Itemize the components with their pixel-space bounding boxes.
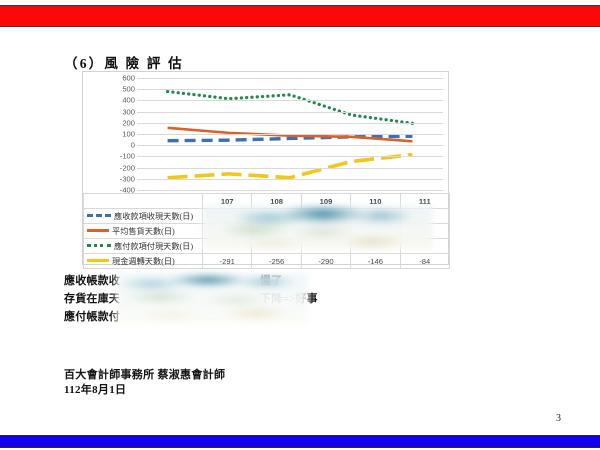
footer-line-date: 112年8月1日 [64,383,225,398]
legend-swatch-icon [87,229,109,232]
footer-line-firm: 百大會計師事務所 蔡淑惠會計師 [64,368,225,383]
table-cell [351,209,400,224]
table-row: 平均售貨天數(日) [84,224,450,239]
commentary-fragment-left: 應收帳款收 [64,272,120,288]
table-column-header: 108 [252,194,301,209]
table-row: 應付款項付現天數(日) [84,239,450,254]
table-cell [351,224,400,239]
y-axis-tick-label: -300 [83,174,135,183]
legend-swatch-icon [87,244,111,247]
slide-bottom-accent-bar [0,435,600,448]
chart-gridline [137,190,443,191]
chart-plot-area: 6005004003002001000-100-200-300-400 [83,72,450,193]
table-cell [252,224,301,239]
table-column-header: 107 [203,194,252,209]
y-axis-tick-label: 200 [83,118,135,127]
chart-gridline [137,89,443,90]
chart-data-table: 107108109110111應收款項收現天數(日)平均售貨天數(日)應付款項付… [83,193,450,265]
chart-gridline [137,123,443,124]
table-cell [301,239,350,254]
legend-entry: 平均售貨天數(日) [84,224,203,239]
y-axis-tick-label: 400 [83,96,135,105]
chart-plot [137,78,443,190]
table-cell [351,239,400,254]
chart-gridline [137,145,443,146]
table-row: 應收款項收現天數(日) [84,209,450,224]
commentary-fragment-left: 存貨在庫天 [64,290,120,306]
footer-credit: 百大會計師事務所 蔡淑惠會計師 112年8月1日 [64,368,225,398]
chart-container: 6005004003002001000-100-200-300-400 1071… [82,71,449,265]
legend-label: 現金週轉天數(日) [112,257,175,266]
y-axis-tick-label: 100 [83,130,135,139]
slide-top-accent-bar [0,5,600,27]
legend-entry: 現金週轉天數(日) [84,254,203,269]
chart-series-line [168,91,413,123]
table-cell [252,209,301,224]
commentary-fragment-right: 下降=>好事 [260,290,318,306]
y-axis-tick-label: 300 [83,107,135,116]
legend-swatch-icon [87,214,111,217]
table-cell [301,224,350,239]
table-column-header: 110 [351,194,400,209]
legend-label: 應收款項收現天數(日) [114,212,193,221]
legend-entry: 應收款項收現天數(日) [84,209,203,224]
legend-swatch-icon [87,259,109,262]
table-cell [203,224,252,239]
table-column-header: 109 [301,194,350,209]
legend-label: 應付款項付現天數(日) [114,242,193,251]
table-cell: -291 [203,254,252,269]
chart-gridline [137,168,443,169]
commentary-fragment-left: 應付帳款付 [64,308,120,324]
chart-gridline [137,100,443,101]
table-cell [252,239,301,254]
table-row: 現金週轉天數(日)-291-256-290-146-84 [84,254,450,269]
chart-gridline [137,156,443,157]
table-cell [400,224,449,239]
table-cell [301,209,350,224]
chart-gridline [137,78,443,79]
y-axis-tick-label: -200 [83,163,135,172]
commentary-notes: 應付帳款付存貨在庫天下降=>好事應收帳款收慢了 [64,272,384,328]
table-cell [203,239,252,254]
chart-series-line [168,155,413,178]
table-cell: -146 [351,254,400,269]
table-cell: -256 [252,254,301,269]
page-number: 3 [556,413,561,424]
y-axis-tick-label: 0 [83,141,135,150]
table-cell [400,239,449,254]
table-column-header: 111 [400,194,449,209]
legend-entry: 應付款項付現天數(日) [84,239,203,254]
chart-gridline [137,112,443,113]
chart-gridline [137,179,443,180]
y-axis-tick-label: 600 [83,74,135,83]
commentary-fragment-right: 慢了 [260,272,282,288]
table-cell [400,209,449,224]
chart-y-axis: 6005004003002001000-100-200-300-400 [83,78,135,190]
table-cell: -84 [400,254,449,269]
table-header-row: 107108109110111 [84,194,450,209]
page-title: （6）風 險 評 估 [64,52,184,72]
y-axis-tick-label: -100 [83,152,135,161]
table-corner-cell [84,194,203,209]
table-cell [203,209,252,224]
chart-gridline [137,134,443,135]
legend-label: 平均售貨天數(日) [112,227,175,236]
table-cell: -290 [301,254,350,269]
y-axis-tick-label: 500 [83,85,135,94]
